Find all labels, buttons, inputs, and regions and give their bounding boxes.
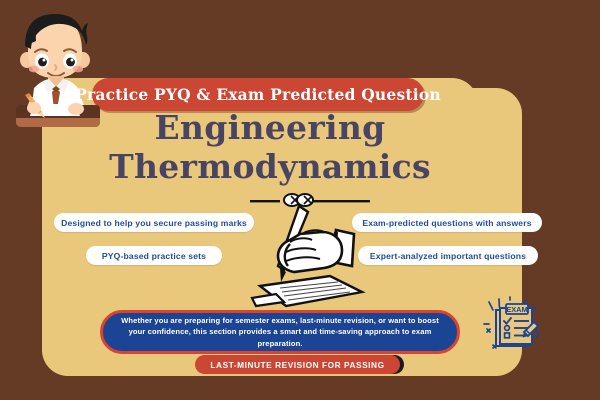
page-title: Engineering Thermodynamics [60,108,480,186]
feature-pill-1[interactable]: Designed to help you secure passing mark… [54,213,254,232]
description-box: Whether you are preparing for semester e… [100,310,460,354]
feature-pill-2-label: PYQ-based practice sets [102,251,206,261]
header-banner: Practice PYQ & Exam Predicted Question [92,78,424,111]
feature-pill-3-label: Exam-predicted questions with answers [362,218,531,228]
feature-pill-4-label: Expert-analyzed important questions [370,251,526,261]
bottom-banner-label: LAST-MINUTE REVISION FOR PASSING [210,360,384,370]
feature-pill-1-label: Designed to help you secure passing mark… [61,218,247,228]
header-banner-label: Practice PYQ & Exam Predicted Question [75,85,441,104]
feature-pill-3[interactable]: Exam-predicted questions with answers [352,213,542,232]
feature-pill-2[interactable]: PYQ-based practice sets [86,246,222,265]
poster-canvas: Practice PYQ & Exam Predicted Question E… [0,0,600,400]
page-title-line1: Engineering [154,108,385,147]
exam-clipboard-label: EXAM [506,305,527,314]
feature-pill-4[interactable]: Expert-analyzed important questions [358,246,538,265]
page-title-line2: Thermodynamics [60,147,480,186]
hand-writing-with-pen-illustration [250,182,370,310]
description-text: Whether you are preparing for semester e… [117,315,443,350]
student-writing-illustration [4,8,112,128]
bottom-banner[interactable]: LAST-MINUTE REVISION FOR PASSING [195,355,400,374]
exam-clipboard-icon: EXAM [480,296,542,356]
